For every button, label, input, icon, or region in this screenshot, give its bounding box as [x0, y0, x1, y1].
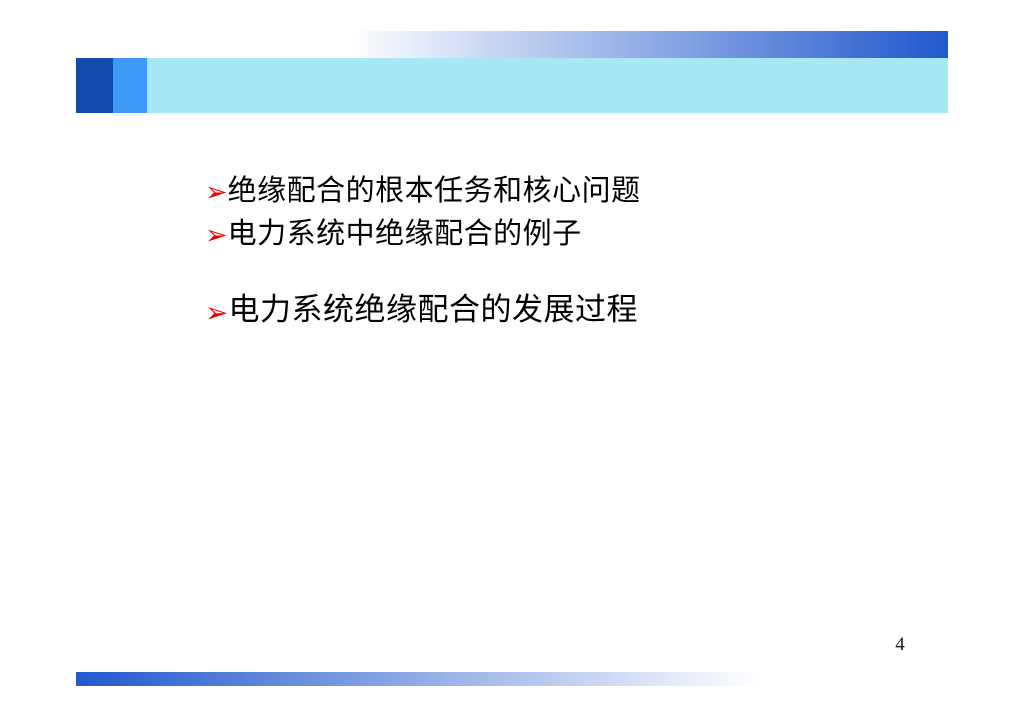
header-band	[76, 58, 948, 113]
list-item[interactable]: ➢ 电力系统绝缘配合的发展过程	[205, 295, 965, 341]
slide-body: ➢ 绝缘配合的根本任务和核心问题 ➢ 电力系统中绝缘配合的例子 ➢ 电力系统绝缘…	[205, 176, 965, 341]
bullet-item-label: 电力系统绝缘配合的发展过程	[228, 295, 638, 326]
header-accent-block-medium	[113, 58, 147, 113]
header-band-cyan-fill	[76, 58, 948, 113]
arrow-bullet-icon: ➢	[205, 295, 228, 327]
header-gradient-strip	[215, 31, 948, 58]
arrow-bullet-icon: ➢	[205, 219, 228, 249]
bullet-list-spacer	[205, 262, 965, 295]
header-decoration	[0, 0, 1024, 130]
bullet-item-label: 电力系统中绝缘配合的例子	[228, 219, 582, 248]
page-number: 4	[880, 634, 920, 656]
list-item[interactable]: ➢ 电力系统中绝缘配合的例子	[205, 219, 965, 262]
list-item[interactable]: ➢ 绝缘配合的根本任务和核心问题	[205, 176, 965, 219]
arrow-bullet-icon: ➢	[205, 176, 228, 206]
bullet-item-label: 绝缘配合的根本任务和核心问题	[228, 176, 641, 205]
footer-gradient-bar	[76, 672, 760, 686]
bullet-list: ➢ 绝缘配合的根本任务和核心问题 ➢ 电力系统中绝缘配合的例子 ➢ 电力系统绝缘…	[205, 176, 965, 341]
header-accent-block-dark	[76, 58, 113, 113]
slide-canvas: ➢ 绝缘配合的根本任务和核心问题 ➢ 电力系统中绝缘配合的例子 ➢ 电力系统绝缘…	[0, 0, 1024, 724]
